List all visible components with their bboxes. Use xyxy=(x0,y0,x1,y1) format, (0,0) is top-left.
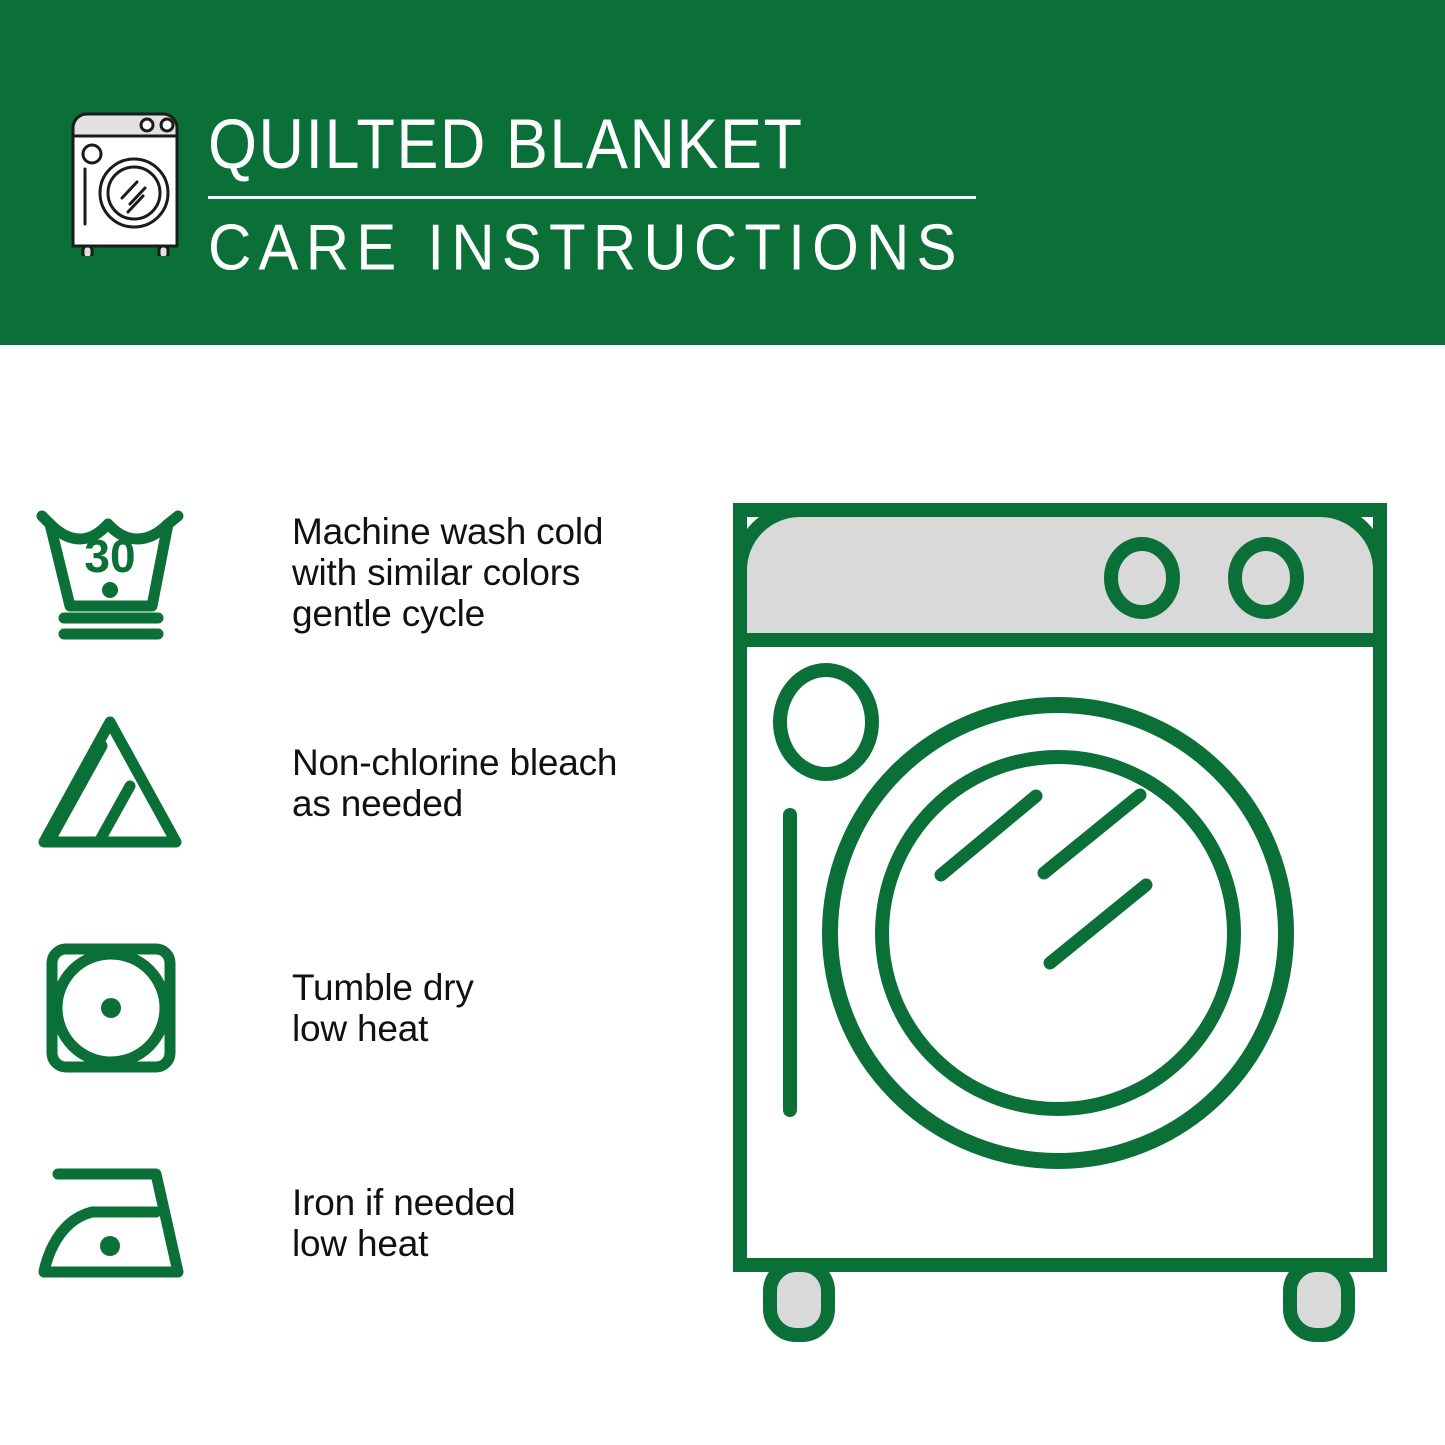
care-text-bleach: Non-chlorine bleach as needed xyxy=(240,742,617,824)
care-row-bleach: Non-chlorine bleach as needed xyxy=(0,700,720,865)
care-instructions-page: QUILTED BLANKET CARE INSTRUCTIONS 30 xyxy=(0,0,1445,1445)
care-text-line: low heat xyxy=(292,1008,474,1049)
care-text-line: Machine wash cold xyxy=(292,511,603,552)
care-row-iron: Iron if needed low heat xyxy=(0,1135,720,1310)
care-text-tumble-dry: Tumble dry low heat xyxy=(240,967,474,1049)
wash-tub-30-icon: 30 xyxy=(0,485,240,660)
care-row-machine-wash: 30 Machine wash cold with similar colors… xyxy=(0,485,720,660)
care-text-line: Non-chlorine bleach xyxy=(292,742,617,783)
iron-low-heat-icon xyxy=(0,1135,240,1310)
knob-right[interactable] xyxy=(1235,544,1297,612)
care-text-line: gentle cycle xyxy=(292,593,603,634)
detergent-dial[interactable] xyxy=(780,670,872,774)
care-text-line: Iron if needed xyxy=(292,1182,515,1223)
care-symbol-list: 30 Machine wash cold with similar colors… xyxy=(0,345,720,1445)
care-text-machine-wash: Machine wash cold with similar colors ge… xyxy=(240,511,603,634)
care-text-iron: Iron if needed low heat xyxy=(240,1182,515,1264)
knob-left[interactable] xyxy=(1111,544,1173,612)
wash-temperature-value: 30 xyxy=(84,530,135,582)
tumble-dry-low-icon xyxy=(0,920,240,1095)
page-subtitle: CARE INSTRUCTIONS xyxy=(208,211,998,284)
care-text-line: low heat xyxy=(292,1223,515,1264)
care-text-line: with similar colors xyxy=(292,552,603,593)
door-inner-ring xyxy=(882,757,1234,1109)
page-title: QUILTED BLANKET xyxy=(208,104,998,185)
leg-right xyxy=(1290,1265,1348,1335)
leg-left xyxy=(770,1265,828,1335)
care-row-tumble-dry: Tumble dry low heat xyxy=(0,920,720,1095)
header-band: QUILTED BLANKET CARE INSTRUCTIONS xyxy=(0,0,1445,345)
non-chlorine-bleach-triangle-icon xyxy=(0,700,240,865)
front-load-washing-machine-illustration xyxy=(718,470,1418,1350)
washing-machine-icon xyxy=(64,106,188,256)
title-divider xyxy=(208,196,976,199)
care-text-line: Tumble dry xyxy=(292,967,474,1008)
care-text-line: as needed xyxy=(292,783,617,824)
header-title-block: QUILTED BLANKET CARE INSTRUCTIONS xyxy=(208,104,998,279)
